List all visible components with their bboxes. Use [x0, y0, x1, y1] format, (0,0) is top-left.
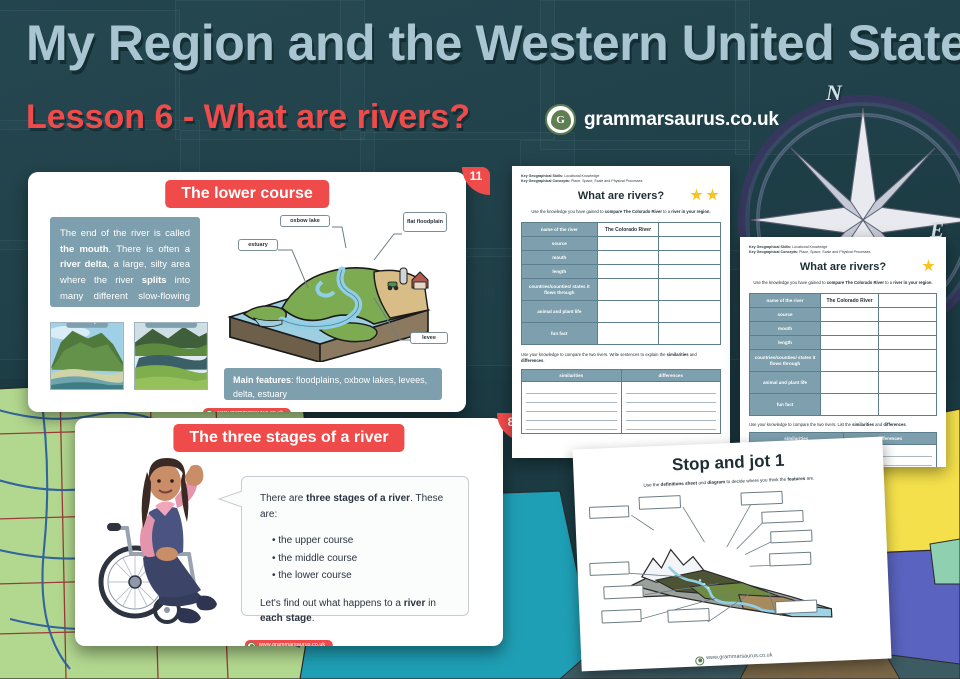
- slide-footer-text: www.grammarsaurus.co.uk: [259, 642, 325, 646]
- table-row: fun fact: [750, 394, 937, 416]
- list-item: • the middle course: [272, 550, 450, 568]
- closing-e: .: [312, 613, 315, 624]
- river-comparison-table[interactable]: name of the riverThe Colorado Riversourc…: [521, 222, 721, 345]
- row-label: length: [522, 265, 598, 279]
- table-row: animal and plant life: [522, 301, 721, 323]
- compass-north-label: N: [826, 80, 842, 106]
- answer-box[interactable]: [770, 530, 812, 544]
- answer-box[interactable]: [639, 495, 682, 510]
- jot-footer-text: www.grammarsaurus.co.uk: [706, 652, 773, 661]
- key-skills-label: Key Geographical Skills:: [749, 245, 791, 249]
- slide-footer: www.grammarsaurus.co.uk: [245, 640, 333, 646]
- star-icon: [922, 259, 935, 272]
- grammarsaurus-logo-icon: G: [545, 104, 576, 135]
- speech-bubble-tail: [215, 488, 247, 512]
- row-label: fun fact: [750, 394, 821, 416]
- stages-list: • the upper course • the middle course •…: [272, 532, 450, 585]
- slide-three-stages[interactable]: 8 The three stages of a river: [75, 418, 503, 646]
- row-value-colorado[interactable]: [597, 237, 659, 251]
- brand-text: grammarsaurus.co.uk: [584, 109, 779, 131]
- logo-letter: G: [556, 114, 565, 126]
- row-label: mouth: [750, 322, 821, 336]
- answer-box[interactable]: [761, 510, 803, 524]
- column-header: differences: [621, 370, 721, 382]
- key-concepts-value: Place, Space, Scale and Physical Process…: [570, 179, 642, 183]
- table-row: source: [750, 308, 937, 322]
- answer-box[interactable]: [601, 609, 642, 624]
- row-label: source: [522, 237, 598, 251]
- river-comparison-table[interactable]: name of the riverThe Colorado Riversourc…: [749, 293, 937, 416]
- worksheet-what-are-rivers-2star[interactable]: Key Geographical Skills: Locational Know…: [512, 166, 730, 458]
- row-value-local[interactable]: [659, 265, 721, 279]
- lower-course-text-panel: The end of the river is called the mouth…: [50, 217, 200, 307]
- row-value-local[interactable]: [879, 322, 937, 336]
- slide-footer-text: www.grammarsaurus.co.uk: [217, 410, 283, 412]
- worksheet-key-skills: Key Geographical Skills: Locational Know…: [749, 245, 937, 255]
- diagram-label-levee: levee: [410, 332, 448, 344]
- table-row: countries/counties/ states it flows thro…: [522, 279, 721, 301]
- slide-footer: www.grammarsaurus.co.uk: [203, 408, 291, 412]
- answer-box[interactable]: [603, 585, 644, 600]
- table-row: length: [750, 336, 937, 350]
- worksheet-intro: Use the knowledge you have gained to com…: [749, 280, 937, 286]
- row-value-colorado[interactable]: [597, 279, 659, 301]
- diagram-label-flat-floodplain: flat floodplain: [403, 212, 447, 232]
- table-row: name of the riverThe Colorado River: [750, 294, 937, 308]
- row-value-local[interactable]: [659, 301, 721, 323]
- speech-intro-b: three stages of a river: [306, 493, 410, 504]
- column-header: similarities: [522, 370, 622, 382]
- row-value-colorado[interactable]: [821, 308, 879, 322]
- row-value-colorado[interactable]: [821, 322, 879, 336]
- closing-a: Let's find out what happens to a: [260, 598, 404, 609]
- row-value-colorado[interactable]: [821, 336, 879, 350]
- slide-title: The three stages of a river: [173, 424, 404, 452]
- row-label: fun fact: [522, 323, 598, 345]
- list-item-label: the lower course: [278, 570, 351, 581]
- list-item-label: the upper course: [278, 535, 353, 546]
- row-value-local[interactable]: [659, 279, 721, 301]
- list-item: • the lower course: [272, 567, 450, 585]
- worksheet-what-are-rivers-1star[interactable]: Key Geographical Skills: Locational Know…: [740, 237, 946, 467]
- compare-intro: Use your knowledge to compare the two ri…: [749, 422, 937, 428]
- row-label: name of the river: [750, 294, 821, 308]
- key-skills-label: Key Geographical Skills:: [521, 174, 563, 178]
- photo-oxbow-lake: oxbow lake: [134, 322, 208, 390]
- brand-logo: G grammarsaurus.co.uk: [545, 104, 779, 135]
- row-label: length: [750, 336, 821, 350]
- table-row: mouth: [522, 251, 721, 265]
- row-value-colorado[interactable]: [597, 323, 659, 345]
- page-title: My Region and the Western United States: [26, 18, 936, 68]
- row-value-colorado[interactable]: The Colorado River: [597, 223, 659, 237]
- row-value-local[interactable]: [659, 323, 721, 345]
- star-icon: [690, 188, 703, 201]
- worksheet-title: What are rivers?: [749, 261, 937, 273]
- row-label: animal and plant life: [750, 372, 821, 394]
- photo-caption: oxbow lake: [145, 322, 197, 328]
- row-label: countries/counties/ states it flows thro…: [522, 279, 598, 301]
- row-value-local[interactable]: [879, 308, 937, 322]
- table-row: countries/counties/ states it flows thro…: [750, 350, 937, 372]
- table-row: animal and plant life: [750, 372, 937, 394]
- answer-box[interactable]: [589, 561, 630, 576]
- table-row: fun fact: [522, 323, 721, 345]
- answer-box[interactable]: [769, 552, 812, 567]
- photo-estuary: estuary: [50, 322, 124, 390]
- worksheet-stop-and-jot[interactable]: Stop and jot 1 Use the definitions sheet…: [572, 437, 891, 672]
- closing-d: each stage: [260, 613, 312, 624]
- row-value-local[interactable]: [659, 223, 721, 237]
- diagram-label-oxbow-lake: oxbow lake: [280, 215, 330, 227]
- row-value-local[interactable]: [879, 336, 937, 350]
- speech-bubble: There are three stages of a river. These…: [241, 476, 469, 616]
- lesson-subtitle: Lesson 6 - What are rivers?: [26, 100, 470, 134]
- row-value-colorado[interactable]: The Colorado River: [821, 294, 879, 308]
- row-value-local[interactable]: [879, 294, 937, 308]
- similarities-differences-table[interactable]: similarities differences: [521, 369, 721, 434]
- answer-box[interactable]: [667, 608, 710, 623]
- slide-lower-course[interactable]: 11 The lower course The end of the river…: [28, 172, 466, 412]
- key-concepts-value: Place, Space, Scale and Physical Process…: [798, 250, 870, 254]
- star-icon: [706, 188, 719, 201]
- row-label: animal and plant life: [522, 301, 598, 323]
- worksheet-key-skills: Key Geographical Skills: Locational Know…: [521, 174, 721, 184]
- main-features-panel: Main features: floodplains, oxbow lakes,…: [224, 368, 442, 400]
- answer-box[interactable]: [589, 505, 629, 519]
- row-label: name of the river: [522, 223, 598, 237]
- row-value-local[interactable]: [659, 237, 721, 251]
- row-value-colorado[interactable]: [821, 372, 879, 394]
- compare-intro: Use your knowledge to compare the two ri…: [521, 352, 721, 364]
- table-row: name of the riverThe Colorado River: [522, 223, 721, 237]
- row-value-colorado[interactable]: [597, 301, 659, 323]
- row-value-local[interactable]: [879, 350, 937, 372]
- row-value-colorado[interactable]: [821, 350, 879, 372]
- answer-box[interactable]: [775, 599, 818, 614]
- answer-cell[interactable]: [522, 382, 622, 434]
- row-value-colorado[interactable]: [597, 265, 659, 279]
- speech-intro-a: There are: [260, 493, 306, 504]
- main-features-label: Main features: [233, 375, 291, 385]
- photo-caption: estuary: [66, 322, 108, 328]
- diagram-label-estuary: estuary: [238, 239, 278, 251]
- row-label: countries/counties/ states it flows thro…: [750, 350, 821, 372]
- difficulty-stars: [922, 259, 935, 272]
- answer-cell[interactable]: [621, 382, 721, 434]
- answer-box[interactable]: [740, 491, 783, 506]
- list-item: • the upper course: [272, 532, 450, 550]
- worksheet-intro: Use the knowledge you have gained to com…: [521, 209, 721, 215]
- illustration-person-wheelchair: [97, 450, 227, 635]
- slide-title: The lower course: [165, 180, 329, 208]
- list-item-label: the middle course: [278, 553, 357, 564]
- row-value-colorado[interactable]: [821, 394, 879, 416]
- slide-canvas: N E My Region and the Western United Sta…: [0, 0, 960, 679]
- row-value-local[interactable]: [659, 251, 721, 265]
- closing-b: river: [404, 598, 426, 609]
- row-label: source: [750, 308, 821, 322]
- key-skills-value: Locational Knowledge: [791, 245, 827, 249]
- key-skills-value: Locational Knowledge: [563, 174, 599, 178]
- table-row: source: [522, 237, 721, 251]
- jot-footer: www.grammarsaurus.co.uk: [693, 651, 780, 663]
- key-concepts-label: Key Geographical Concepts:: [749, 250, 798, 254]
- key-concepts-label: Key Geographical Concepts:: [521, 179, 570, 183]
- table-row: length: [522, 265, 721, 279]
- table-row: mouth: [750, 322, 937, 336]
- difficulty-stars: [690, 188, 719, 201]
- row-label: mouth: [522, 251, 598, 265]
- closing-c: in: [425, 598, 436, 609]
- row-value-local[interactable]: [879, 372, 937, 394]
- row-value-local[interactable]: [879, 394, 937, 416]
- row-value-colorado[interactable]: [597, 251, 659, 265]
